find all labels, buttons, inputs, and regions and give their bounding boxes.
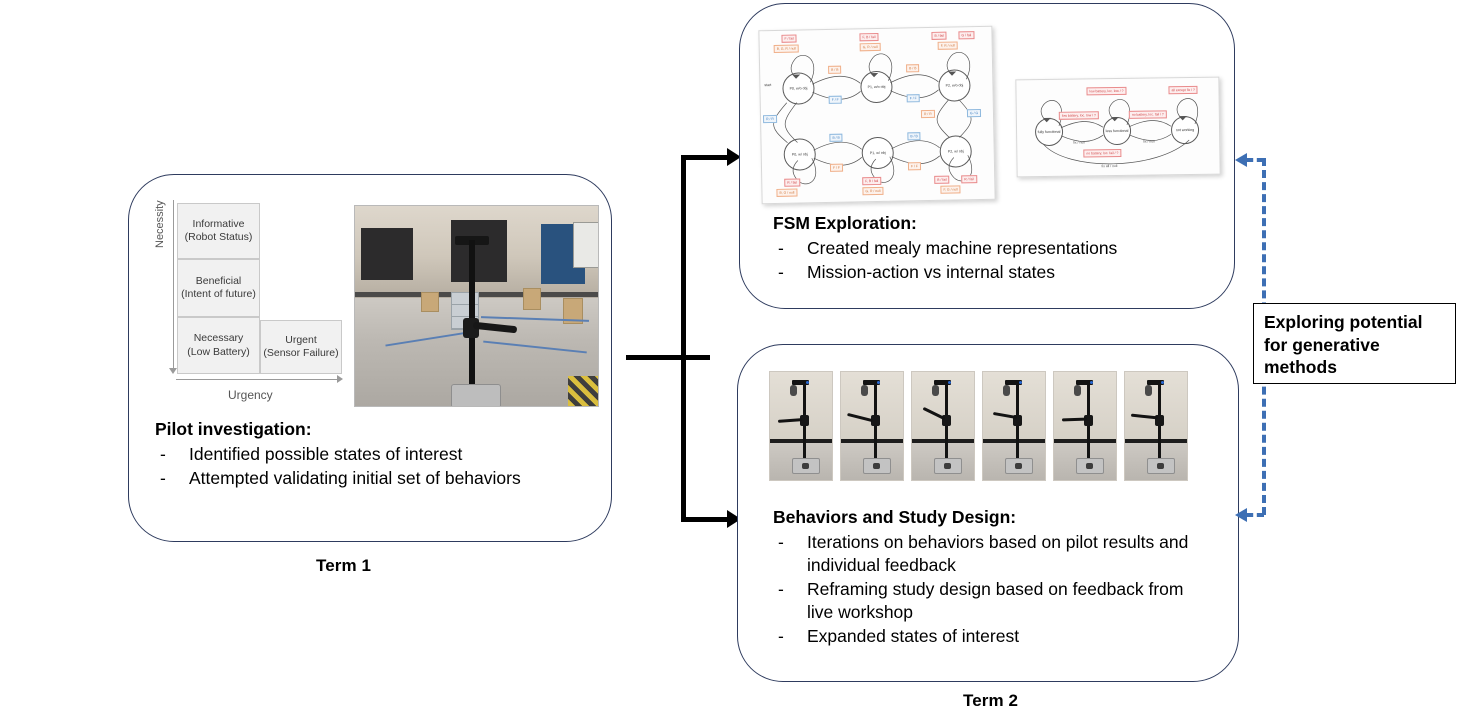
photo-box-left: [421, 292, 439, 312]
fsm-tag: F / F: [907, 94, 920, 102]
robot-behavior-frame: [982, 371, 1046, 481]
fsm-tag: B / B: [829, 134, 843, 142]
fsm-tag: no battery, loc. fail / ?: [1129, 110, 1167, 119]
fsm-tag: B / B: [907, 132, 921, 140]
photo-robot-base: [451, 384, 501, 407]
behaviors-study-design-block: Behaviors and Study Design: - Iterations…: [773, 507, 1213, 649]
fsm-tag: fix / null: [1071, 139, 1087, 145]
fsm-tag: F / F: [829, 96, 842, 104]
fsm-tag: F, B / fail: [859, 33, 878, 41]
pilot-investigation-bullet-list: - Identified possible states of interest…: [155, 443, 585, 490]
bullet-dash: -: [778, 531, 784, 554]
quadrant-cell-informative: Informative (Robot Status): [177, 203, 260, 259]
quadrant-cell-title: Informative: [193, 218, 245, 231]
fsm-tag: fix all / null: [1100, 163, 1120, 169]
list-item-label: Expanded states of interest: [807, 626, 1019, 646]
list-item-label: Reframing study design based on feedback…: [807, 579, 1183, 622]
list-item: - Created mealy machine representations: [773, 237, 1223, 260]
bullet-dash: -: [778, 261, 784, 284]
connector-branch-bottom: [681, 517, 729, 522]
chart-x-axis-line: [176, 379, 339, 380]
fsm-exploration-block: FSM Exploration: - Created mealy machine…: [773, 213, 1223, 285]
necessity-urgency-quadrant-chart: Necessity Urgency Informative (Robot Sta…: [158, 196, 343, 411]
robot-behavior-frame: [1124, 371, 1188, 481]
fsm-tag: no battery, loc. fail / ?: [1083, 149, 1121, 158]
fsm-exploration-heading: FSM Exploration:: [773, 213, 1223, 234]
fsm-tag: G, R / null: [862, 187, 883, 195]
robot-behavior-frame: [840, 371, 904, 481]
fsm-tag: B, G / null: [776, 189, 797, 197]
connector-vertical: [681, 156, 686, 521]
fsm-tag: R / fail: [784, 178, 800, 186]
quadrant-cell-subtitle: (Robot Status): [185, 231, 253, 244]
photo-whiteboard: [573, 222, 599, 268]
fsm-tag: B / B: [906, 64, 920, 72]
robot-behavior-frame: [1053, 371, 1117, 481]
chart-y-axis-arrow-icon: [169, 368, 177, 374]
behaviors-study-design-heading: Behaviors and Study Design:: [773, 507, 1213, 528]
list-item-label: Iterations on behaviors based on pilot r…: [807, 532, 1188, 575]
fsm-tag: F / F: [830, 164, 843, 172]
bullet-dash: -: [778, 237, 784, 260]
feedback-connector-branch-top: [1246, 158, 1264, 162]
fsm-tag: low battery, loc. low / ?: [1086, 87, 1126, 96]
chart-y-axis-label: Necessity: [154, 200, 166, 248]
quadrant-cell-title: Urgent: [285, 334, 317, 347]
lab-robot-photo: [354, 205, 599, 407]
fsm-tag: F, B / fail: [862, 177, 881, 185]
fsm-tag: all except fix / ?: [1168, 86, 1197, 94]
fsm-tag: G / fail: [958, 31, 974, 39]
list-item-label: Identified possible states of interest: [189, 444, 462, 464]
list-item: - Attempted validating initial set of be…: [155, 467, 585, 490]
list-item-label: Created mealy machine representations: [807, 238, 1117, 258]
fsm-tag: G / G: [967, 109, 981, 117]
photo-hazard-stripe: [568, 376, 598, 406]
chart-x-axis-arrow-icon: [337, 375, 343, 383]
term2-caption: Term 2: [963, 691, 1018, 711]
robot-behavior-frame: [911, 371, 975, 481]
fsm-tag: F, G / null: [940, 185, 960, 193]
fsm-tag: R / fail: [961, 175, 977, 183]
quadrant-cell-subtitle: (Intent of future): [181, 288, 256, 301]
fsm-tag: R / R: [921, 110, 935, 118]
fsm-tag: G, R / null: [860, 43, 881, 51]
pilot-investigation-heading: Pilot investigation:: [155, 419, 585, 440]
quadrant-cell-title: Beneficial: [196, 275, 242, 288]
fsm-tag: low battery, loc. low / ?: [1059, 111, 1099, 120]
list-item-label: Attempted validating initial set of beha…: [189, 468, 521, 488]
robot-behavior-photo-strip: [769, 371, 1188, 481]
connector-stub: [626, 355, 710, 360]
bullet-dash: -: [778, 578, 784, 601]
quadrant-cell-subtitle: (Low Battery): [187, 346, 249, 359]
fsm-tag: fix / null: [1141, 138, 1157, 144]
quadrant-cell-subtitle: (Sensor Failure): [263, 347, 338, 360]
photo-shelf-left: [361, 228, 413, 280]
bullet-dash: -: [160, 467, 166, 490]
fsm-tag: R / R: [763, 115, 777, 123]
quadrant-cell-title: Necessary: [194, 332, 244, 345]
feedback-connector-branch-bottom: [1246, 513, 1264, 517]
arrow-left-icon: [1235, 508, 1247, 522]
quadrant-cell-beneficial: Beneficial (Intent of future): [177, 259, 260, 317]
list-item: - Identified possible states of interest: [155, 443, 585, 466]
fsm-exploration-bullet-list: - Created mealy machine representations …: [773, 237, 1223, 284]
fsm-tag: B / fail: [931, 32, 947, 40]
fsm-tag: F, R / null: [938, 41, 958, 49]
photo-robot-mast: [469, 240, 475, 390]
term1-caption: Term 1: [316, 556, 371, 576]
photo-cabinet-center: [451, 220, 507, 282]
connector-branch-top: [681, 155, 729, 160]
fsm-mealy-machine-diagram: P0, w/o obj P1, w/o obj P2, w/o obj P0, …: [758, 26, 995, 204]
exploring-potential-callout: Exploring potential for generative metho…: [1253, 303, 1456, 384]
quadrant-cell-urgent: Urgent (Sensor Failure): [260, 320, 342, 374]
quadrant-cell-necessary: Necessary (Low Battery): [177, 317, 260, 374]
list-item-label: Mission-action vs internal states: [807, 262, 1055, 282]
fsm-tag: B, G, R / null: [774, 44, 799, 52]
fsm-tag: F / fail: [781, 35, 796, 43]
list-item: - Expanded states of interest: [773, 625, 1213, 648]
bullet-dash: -: [778, 625, 784, 648]
list-item: - Reframing study design based on feedba…: [773, 578, 1213, 624]
diagram-canvas: Necessity Urgency Informative (Robot Sta…: [0, 0, 1472, 720]
photo-box-mid: [523, 288, 541, 310]
fsm-tag: F / F: [908, 162, 921, 170]
fsm-tag: B / fail: [934, 176, 950, 184]
arrow-left-icon: [1235, 153, 1247, 167]
chart-y-axis-line: [173, 200, 174, 372]
bullet-dash: -: [160, 443, 166, 466]
behaviors-study-design-bullet-list: - Iterations on behaviors based on pilot…: [773, 531, 1213, 648]
list-item: - Iterations on behaviors based on pilot…: [773, 531, 1213, 577]
pilot-investigation-block: Pilot investigation: - Identified possib…: [155, 419, 585, 491]
list-item: - Mission-action vs internal states: [773, 261, 1223, 284]
robot-behavior-frame: [769, 371, 833, 481]
fsm-tag: B / B: [828, 66, 842, 74]
fsm-internal-state-diagram: fully functional less functional not wor…: [1015, 77, 1220, 178]
chart-x-axis-label: Urgency: [228, 388, 273, 402]
